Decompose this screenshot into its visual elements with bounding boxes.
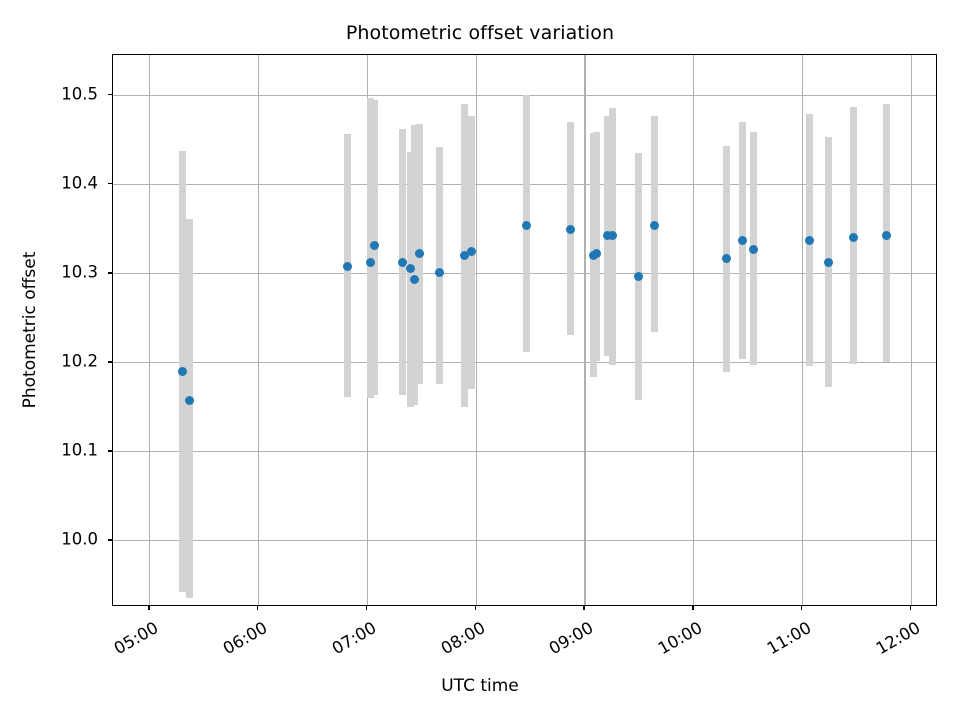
y-gridline <box>113 451 936 452</box>
x-gridline <box>693 55 694 605</box>
x-gridline <box>149 55 150 605</box>
x-axis-title: UTC time <box>0 676 960 696</box>
x-axis-tick <box>148 606 149 610</box>
x-axis-tick <box>257 606 258 610</box>
data-point <box>522 221 531 230</box>
data-point <box>410 275 419 284</box>
x-axis-tick <box>475 606 476 610</box>
data-point <box>824 258 833 267</box>
data-point <box>849 233 858 242</box>
x-axis-tick-label: 12:00 <box>864 618 924 663</box>
x-gridline <box>911 55 912 605</box>
y-gridline <box>113 540 936 541</box>
x-axis-tick <box>692 606 693 610</box>
y-axis-tick-label: 10.5 <box>61 85 98 104</box>
y-axis-tick-label: 10.1 <box>61 441 98 460</box>
x-axis-tick <box>801 606 802 610</box>
chart-title: Photometric offset variation <box>0 22 960 44</box>
x-axis-tick <box>910 606 911 610</box>
data-point <box>406 264 415 273</box>
y-axis-title: Photometric offset <box>20 252 40 409</box>
data-point <box>805 236 814 245</box>
data-point <box>415 249 424 258</box>
x-axis-tick-label: 06:00 <box>211 618 271 663</box>
data-point <box>343 262 352 271</box>
x-gridline <box>476 55 477 605</box>
error-bar <box>436 147 443 385</box>
y-axis-tick-label: 10.2 <box>61 352 98 371</box>
data-point <box>738 236 747 245</box>
data-point <box>566 225 575 234</box>
data-point <box>592 249 601 258</box>
data-point <box>435 268 444 277</box>
figure-canvas: Photometric offset variation Photometric… <box>0 0 960 720</box>
data-point <box>370 241 379 250</box>
y-axis-tick-label: 10.0 <box>61 530 98 549</box>
error-bar <box>593 132 600 362</box>
x-gridline <box>802 55 803 605</box>
x-axis-tick-label: 08:00 <box>428 618 488 663</box>
plot-area <box>112 54 937 606</box>
x-axis-tick-label: 10:00 <box>646 618 706 663</box>
data-point <box>366 258 375 267</box>
y-axis-tick-label: 10.3 <box>61 263 98 282</box>
x-axis-tick-label: 09:00 <box>537 618 597 663</box>
data-point <box>650 221 659 230</box>
data-point <box>185 396 194 405</box>
x-gridline <box>258 55 259 605</box>
data-point <box>467 247 476 256</box>
x-axis-tick-label: 07:00 <box>320 618 380 663</box>
x-gridline <box>584 55 585 605</box>
x-axis-tick-label: 05:00 <box>102 618 162 663</box>
data-point <box>749 245 758 254</box>
y-axis-tick-label: 10.4 <box>61 174 98 193</box>
error-bar <box>186 219 193 598</box>
x-axis-tick <box>583 606 584 610</box>
x-axis-tick-label: 11:00 <box>755 618 815 663</box>
x-axis-tick <box>366 606 367 610</box>
